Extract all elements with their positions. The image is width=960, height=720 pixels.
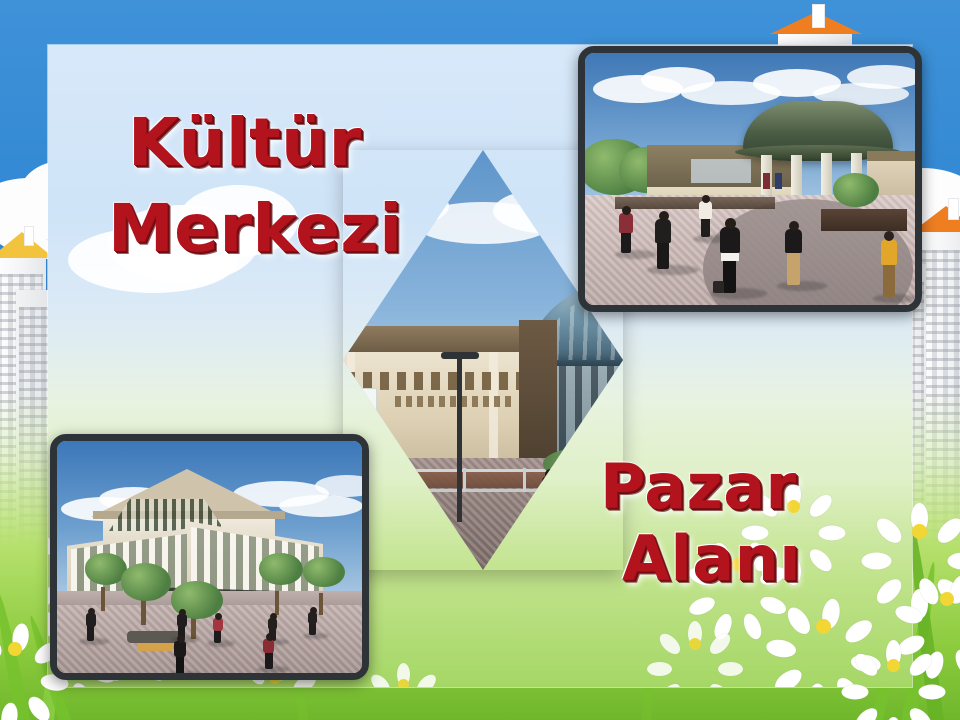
daisy-flower	[0, 618, 46, 680]
daisy-flower	[668, 617, 722, 671]
daisy-flower	[864, 636, 922, 694]
headline-subtitle-line1: Pazar	[600, 450, 797, 523]
planter	[821, 209, 907, 231]
chimney	[812, 4, 825, 28]
photo-top-right[interactable]	[578, 46, 922, 312]
kultur-merkezi-plaza-render	[585, 53, 915, 305]
person	[883, 263, 895, 297]
person	[787, 251, 800, 285]
daisy-flower	[886, 498, 952, 564]
handbag	[713, 281, 724, 293]
daisy-flower	[916, 568, 960, 630]
person	[723, 257, 736, 293]
facade-sign-secondary	[395, 396, 515, 407]
chimney	[948, 198, 959, 220]
slide-canvas: Kültür Merkezi Pazar Alanı	[0, 0, 960, 720]
photo-bottom-left[interactable]	[50, 434, 369, 680]
lamp-post	[457, 354, 462, 522]
daisy-flower	[790, 593, 856, 659]
headline-title-line2: Merkezi	[108, 190, 402, 267]
pazar-alani-building-render	[57, 441, 362, 673]
daisy-flower	[378, 659, 428, 687]
person	[543, 492, 556, 528]
chimney	[24, 226, 34, 246]
headline-subtitle-line2: Alanı	[622, 522, 801, 595]
headline-title-line1: Kültür	[128, 104, 362, 181]
